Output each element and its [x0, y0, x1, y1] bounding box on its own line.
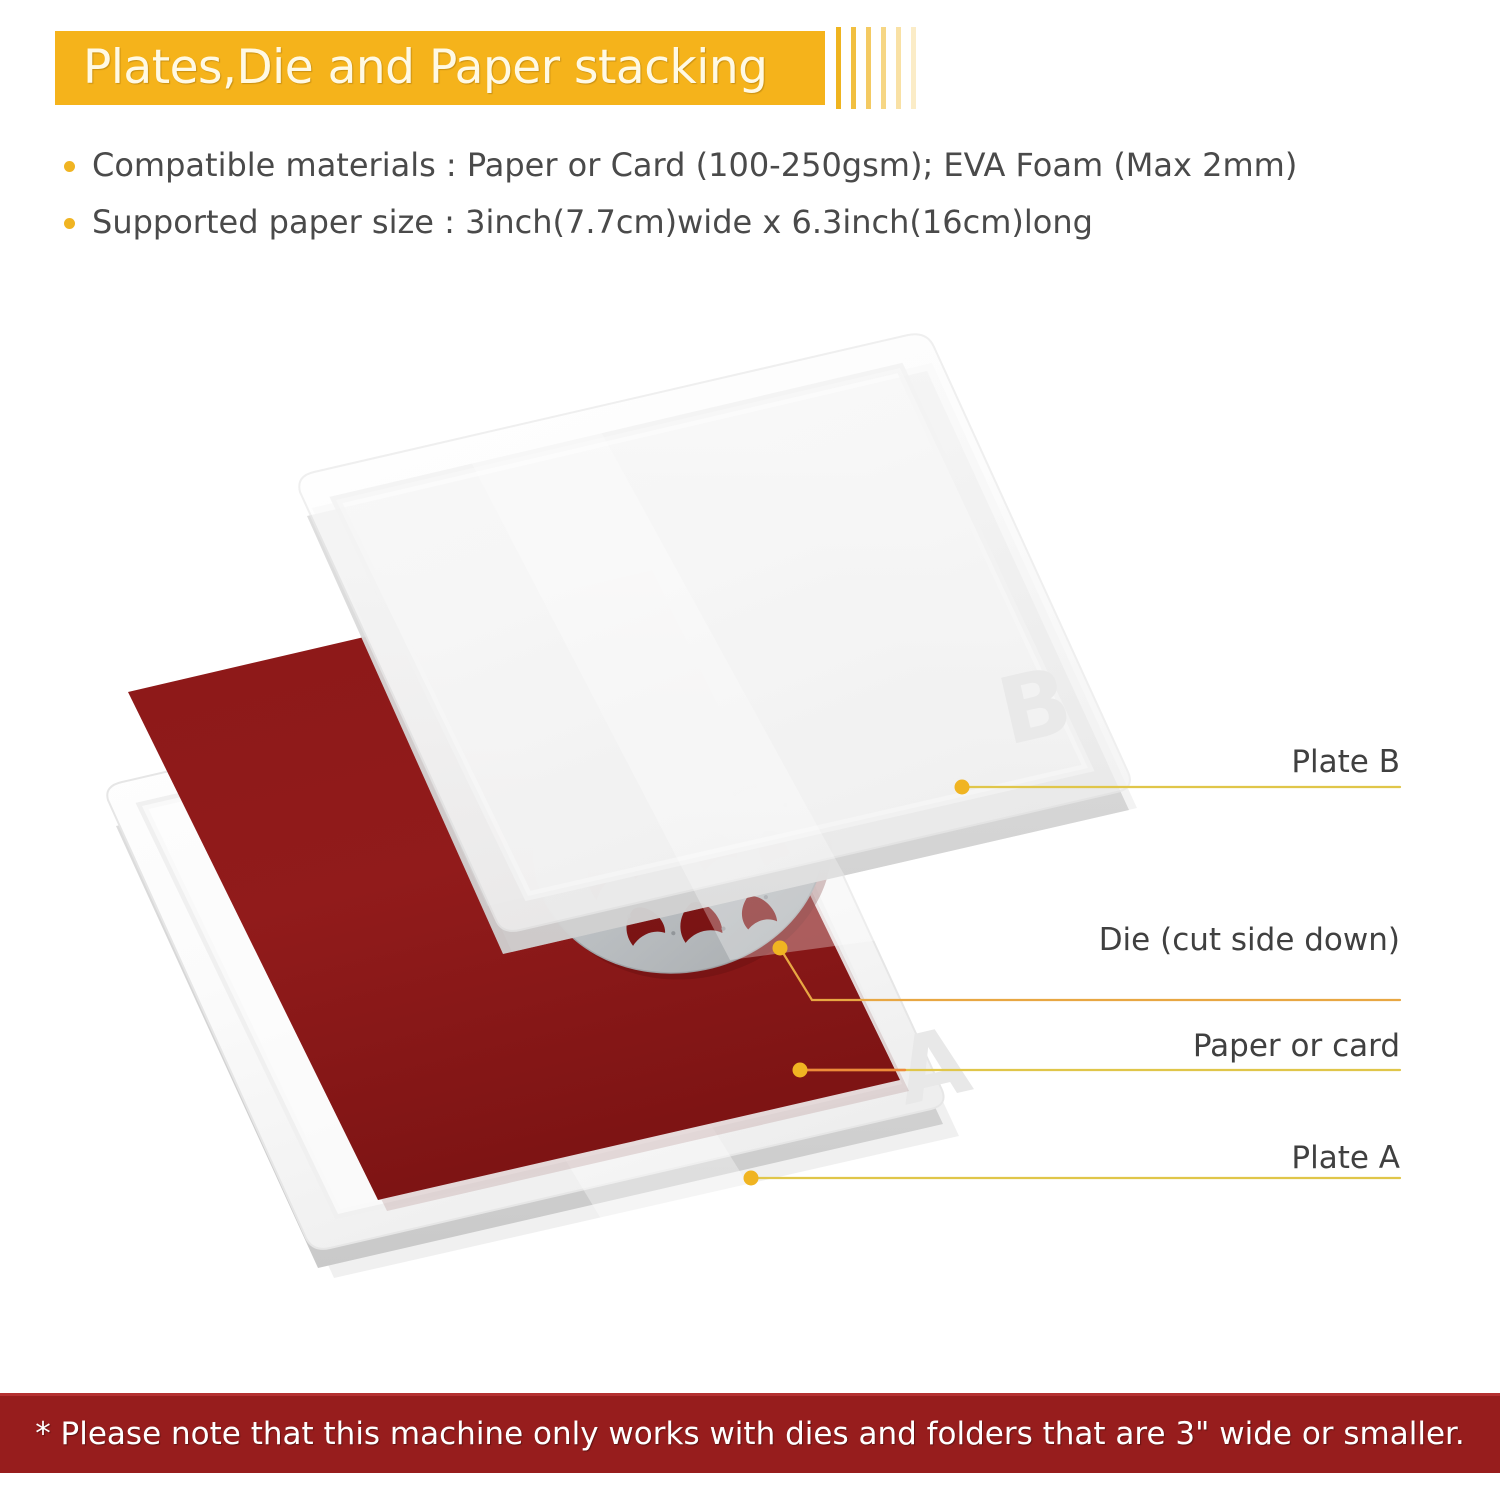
- leader-dot-plate-a: [744, 1171, 759, 1186]
- title-stripe-decoration: [836, 27, 926, 109]
- title-bar: Plates,Die and Paper stacking: [55, 31, 825, 105]
- leader-dot-paper: [793, 1063, 808, 1078]
- bullet-text: Compatible materials : Paper or Card (10…: [92, 140, 1297, 197]
- bullet-dot-icon: [64, 161, 75, 172]
- bullet-dot-icon: [64, 218, 75, 229]
- list-item: Compatible materials : Paper or Card (10…: [58, 140, 1358, 197]
- bullet-text: Supported paper size : 3inch(7.7cm)wide …: [92, 197, 1093, 254]
- list-item: Supported paper size : 3inch(7.7cm)wide …: [58, 197, 1358, 254]
- title-stripe: [836, 27, 841, 109]
- callout-label-paper: Paper or card: [1193, 1028, 1400, 1064]
- title-stripe: [881, 27, 886, 109]
- footer-note-text: * Please note that this machine only wor…: [0, 1396, 1500, 1473]
- infographic-page: Plates,Die and Paper stacking Compatible…: [0, 0, 1500, 1500]
- title-stripe: [896, 27, 901, 109]
- title-stripe: [851, 27, 856, 109]
- callout-label-die: Die (cut side down): [1099, 922, 1400, 958]
- spec-bullet-list: Compatible materials : Paper or Card (10…: [58, 140, 1358, 254]
- callout-label-plate-a: Plate A: [1291, 1140, 1400, 1176]
- exploded-stack-illustration: A: [0, 300, 1500, 1320]
- title-stripe: [866, 27, 871, 109]
- callout-label-plate-b: Plate B: [1291, 744, 1400, 780]
- page-title: Plates,Die and Paper stacking: [55, 31, 825, 105]
- leader-dot-die: [773, 941, 788, 956]
- leader-dot-plate-b: [955, 780, 970, 795]
- footer-note-banner: * Please note that this machine only wor…: [0, 1393, 1500, 1473]
- title-stripe: [911, 27, 916, 109]
